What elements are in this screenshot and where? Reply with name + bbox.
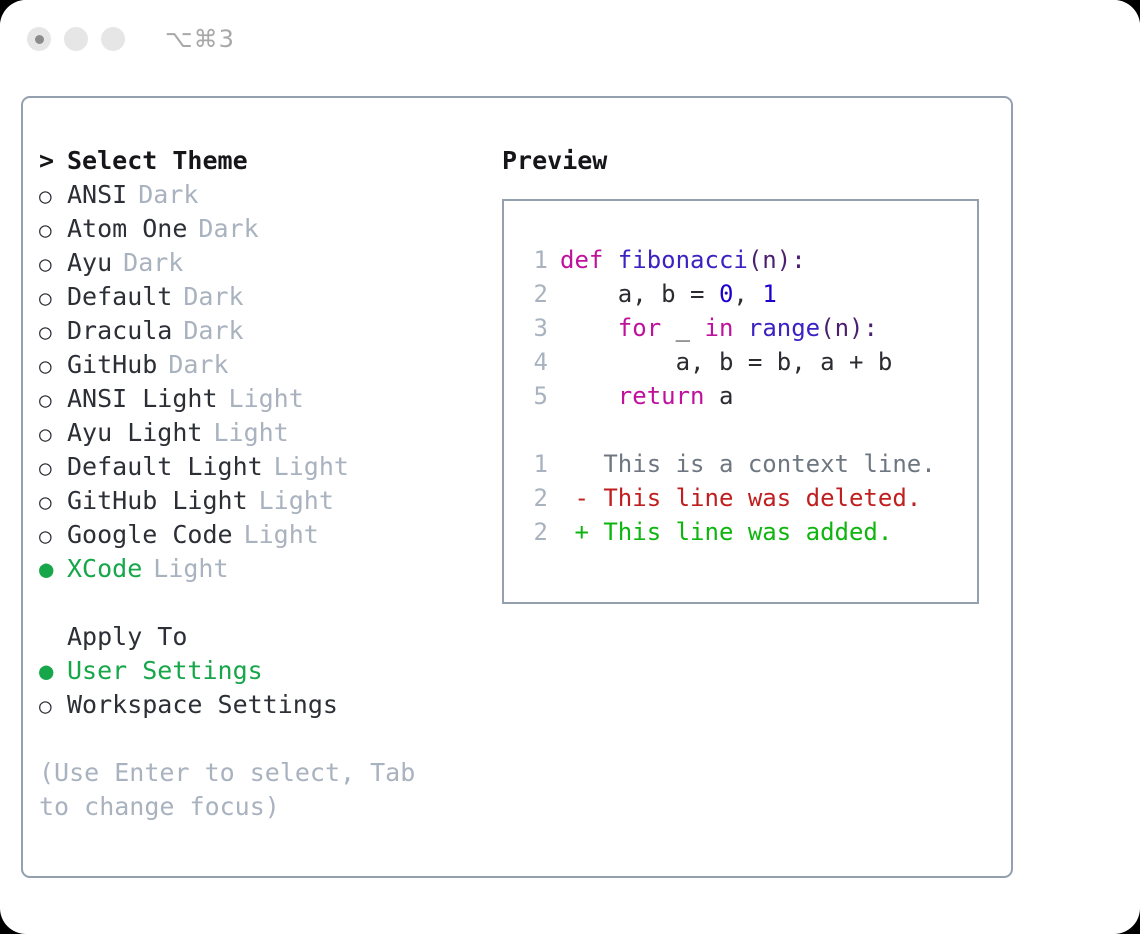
theme-option-ansi-light[interactable]: ○ANSI LightLight [39,382,489,416]
code-token: in [705,314,734,342]
theme-option-label: Google Code [67,518,233,552]
theme-option-google-code[interactable]: ○Google CodeLight [39,518,489,552]
code-line: 3 for _ in range(n): [504,311,977,345]
theme-option-label: GitHub [67,348,157,382]
code-token: a, b = [560,280,719,308]
traffic-light-group [27,27,125,51]
apply-to-option-label: User Settings [67,654,263,688]
radio-unselected-icon: ○ [39,315,67,349]
radio-unselected-icon: ○ [39,417,67,451]
apply-to-heading: Apply To [39,620,489,654]
radio-unselected-icon: ○ [39,281,67,315]
theme-option-kind: Dark [112,246,183,280]
code-token: fibonacci [618,246,748,274]
theme-option-default-light[interactable]: ○Default LightLight [39,450,489,484]
code-token: 1 [762,280,776,308]
radio-unselected-icon: ○ [39,349,67,383]
radio-selected-icon: ● [39,552,67,586]
diff-line: 1 This is a context line. [504,447,977,481]
code-diff-spacer [504,413,977,447]
code-token: - This line was deleted. [560,484,921,512]
radio-selected-icon: ● [39,654,67,688]
theme-selection-column: >Select Theme ○ANSIDark○Atom OneDark○Ayu… [39,144,489,824]
theme-option-kind: Dark [157,348,228,382]
code-line: 1def fibonacci(n): [504,243,977,277]
apply-to-option-user-settings[interactable]: ●User Settings [39,654,489,688]
theme-option-label: Atom One [67,212,187,246]
code-token: (n): [748,246,806,274]
theme-option-label: Default [67,280,172,314]
theme-option-github-light[interactable]: ○GitHub LightLight [39,484,489,518]
code-token: _ [661,314,704,342]
close-button[interactable] [27,27,51,51]
theme-option-kind: Dark [172,314,243,348]
code-token: return [618,382,705,410]
apply-to-list: ●User Settings○Workspace Settings [39,654,489,722]
help-text: (Use Enter to select, Tab to change focu… [39,756,439,824]
select-theme-heading-label: Select Theme [67,146,248,175]
theme-option-kind: Light [142,552,228,586]
keyboard-shortcut-label: ⌥⌘3 [165,25,235,53]
preview-title: Preview [502,144,992,178]
maximize-button[interactable] [101,27,125,51]
code-token [560,382,618,410]
theme-option-label: Ayu Light [67,416,202,450]
theme-option-xcode[interactable]: ●XCodeLight [39,552,489,586]
line-number: 3 [524,311,548,345]
theme-option-kind: Light [248,484,334,518]
line-number: 2 [524,277,548,311]
line-number: 5 [524,379,548,413]
minimize-button[interactable] [64,27,88,51]
apply-to-option-workspace-settings[interactable]: ○Workspace Settings [39,688,489,722]
code-sample: 1def fibonacci(n):2 a, b = 0, 13 for _ i… [504,243,977,413]
window-titlebar: ⌥⌘3 [0,0,1140,78]
theme-option-ayu[interactable]: ○AyuDark [39,246,489,280]
code-token: (n): [820,314,878,342]
theme-option-kind: Dark [172,280,243,314]
caret-icon: > [39,144,67,178]
theme-option-label: Dracula [67,314,172,348]
code-token: 0 [719,280,733,308]
line-number: 1 [524,447,548,481]
code-token: a [705,382,734,410]
code-token: def [560,246,618,274]
theme-option-label: Default Light [67,450,263,484]
theme-option-ansi[interactable]: ○ANSIDark [39,178,489,212]
theme-option-kind: Dark [187,212,258,246]
radio-unselected-icon: ○ [39,451,67,485]
code-token: + This line was added. [560,518,892,546]
code-token [733,314,747,342]
theme-option-ayu-light[interactable]: ○Ayu LightLight [39,416,489,450]
theme-option-dracula[interactable]: ○DraculaDark [39,314,489,348]
select-theme-heading: >Select Theme [39,144,489,178]
code-token: , [733,280,762,308]
theme-option-kind: Light [263,450,349,484]
radio-unselected-icon: ○ [39,179,67,213]
theme-picker-dialog: >Select Theme ○ANSIDark○Atom OneDark○Ayu… [21,96,1013,878]
theme-option-github[interactable]: ○GitHubDark [39,348,489,382]
code-token: for [618,314,661,342]
line-number: 2 [524,515,548,549]
active-dot-icon [35,35,44,44]
radio-unselected-icon: ○ [39,213,67,247]
code-token: This is a context line. [560,450,936,478]
preview-column: Preview 1def fibonacci(n):2 a, b = 0, 13… [502,144,992,604]
line-number: 1 [524,243,548,277]
radio-unselected-icon: ○ [39,383,67,417]
diff-line: 2 - This line was deleted. [504,481,977,515]
theme-option-kind: Light [218,382,304,416]
theme-option-label: ANSI [67,178,127,212]
app-window: ⌥⌘3 >Select Theme ○ANSIDark○Atom OneDark… [0,0,1140,934]
theme-option-label: GitHub Light [67,484,248,518]
code-token: a, b = b, a + b [560,348,892,376]
code-token: range [748,314,820,342]
radio-unselected-icon: ○ [39,247,67,281]
radio-unselected-icon: ○ [39,519,67,553]
diff-line: 2 + This line was added. [504,515,977,549]
line-number: 4 [524,345,548,379]
theme-option-default[interactable]: ○DefaultDark [39,280,489,314]
line-number: 2 [524,481,548,515]
theme-option-kind: Light [233,518,319,552]
radio-unselected-icon: ○ [39,689,67,723]
theme-list: ○ANSIDark○Atom OneDark○AyuDark○DefaultDa… [39,178,489,586]
theme-option-kind: Light [202,416,288,450]
radio-unselected-icon: ○ [39,485,67,519]
code-line: 4 a, b = b, a + b [504,345,977,379]
theme-option-atom-one[interactable]: ○Atom OneDark [39,212,489,246]
theme-option-label: Ayu [67,246,112,280]
diff-sample: 1 This is a context line.2 - This line w… [504,447,977,549]
preview-panel: 1def fibonacci(n):2 a, b = 0, 13 for _ i… [502,199,979,604]
theme-option-label: ANSI Light [67,382,218,416]
theme-option-kind: Dark [127,178,198,212]
code-line: 5 return a [504,379,977,413]
theme-option-label: XCode [67,552,142,586]
apply-to-option-label: Workspace Settings [67,688,338,722]
code-line: 2 a, b = 0, 1 [504,277,977,311]
code-token [560,314,618,342]
